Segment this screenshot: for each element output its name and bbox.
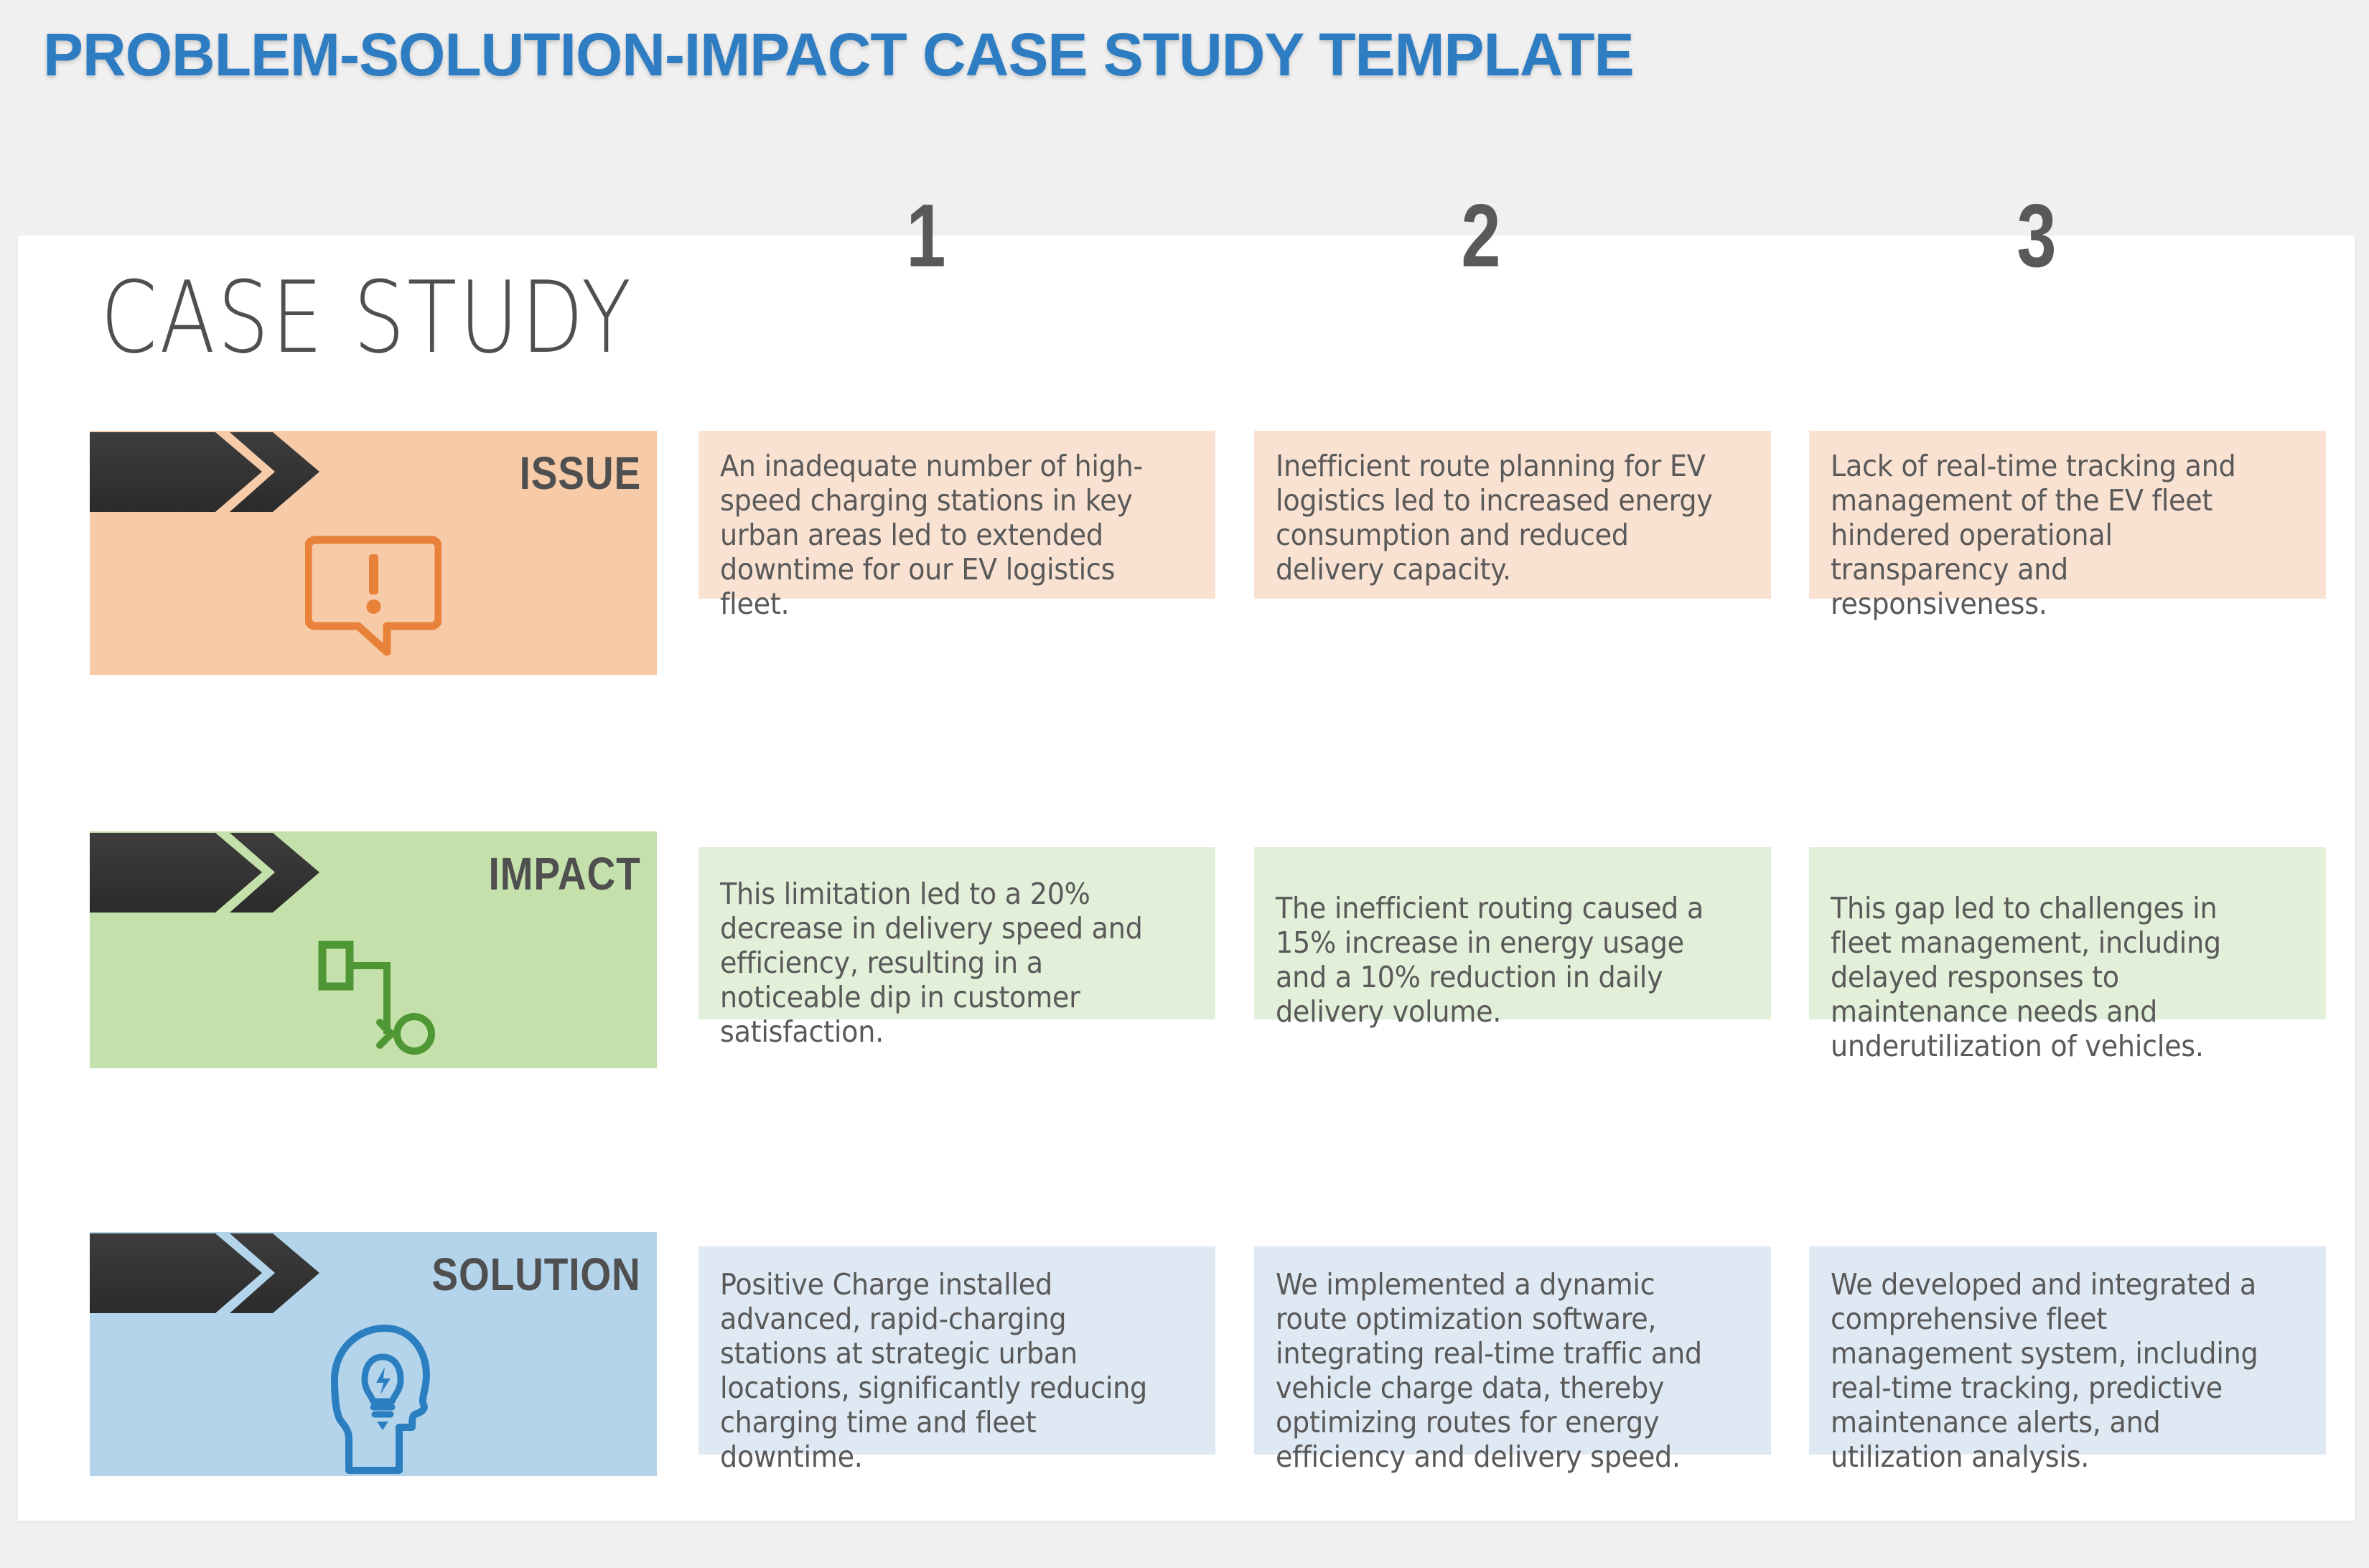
cell-issue-3-text: Lack of real-time tracking and managemen… [1831,449,2271,622]
row-label-solution-text: SOLUTION [432,1248,641,1301]
case-study-card: CASE STUDY 1 2 3 ISSUE [18,235,2355,1521]
cell-issue-1-text: An inadequate number of high-speed charg… [720,449,1161,622]
row-label-issue-text: ISSUE [520,447,641,500]
cell-solution-1: Positive Charge installed advanced, rapi… [698,1246,1215,1455]
cell-solution-2: We implemented a dynamic route optimizat… [1254,1246,1771,1455]
row-label-impact: IMPACT [90,831,657,1068]
step-number-1: 1 [892,185,961,287]
head-lightbulb-idea-icon [314,1324,444,1476]
double-chevron-badge-icon [90,431,334,513]
cell-solution-2-text: We implemented a dynamic route optimizat… [1276,1268,1716,1475]
flow-connector-icon [317,938,453,1060]
cell-issue-2: Inefficient route planning for EV logist… [1254,431,1771,599]
cell-solution-3-text: We developed and integrated a comprehens… [1831,1268,2271,1475]
double-chevron-badge-icon [90,1232,334,1315]
cell-solution-1-text: Positive Charge installed advanced, rapi… [720,1268,1161,1475]
cell-impact-1: This limitation led to a 20% decrease in… [698,847,1215,1019]
step-number-3: 3 [2002,185,2071,287]
cell-impact-2-text: The inefficient routing caused a 15% inc… [1276,892,1716,1030]
cell-impact-2: The inefficient routing caused a 15% inc… [1254,847,1771,1019]
step-number-2: 2 [1447,185,1515,287]
cell-solution-3: We developed and integrated a comprehens… [1809,1246,2326,1455]
row-label-solution: SOLUTION [90,1232,657,1476]
cell-issue-3: Lack of real-time tracking and managemen… [1809,431,2326,599]
page-title: PROBLEM-SOLUTION-IMPACT CASE STUDY TEMPL… [43,20,1634,90]
cell-issue-1: An inadequate number of high-speed charg… [698,431,1215,599]
case-study-heading: CASE STUDY [101,260,633,375]
cell-impact-1-text: This limitation led to a 20% decrease in… [720,877,1161,1050]
cell-impact-3-text: This gap led to challenges in fleet mana… [1831,892,2271,1064]
row-label-impact-text: IMPACT [489,847,641,900]
cell-issue-2-text: Inefficient route planning for EV logist… [1276,449,1716,587]
alert-speech-bubble-icon [305,531,441,661]
double-chevron-badge-icon [90,831,334,914]
row-label-issue: ISSUE [90,431,657,675]
cell-impact-3: This gap led to challenges in fleet mana… [1809,847,2326,1019]
